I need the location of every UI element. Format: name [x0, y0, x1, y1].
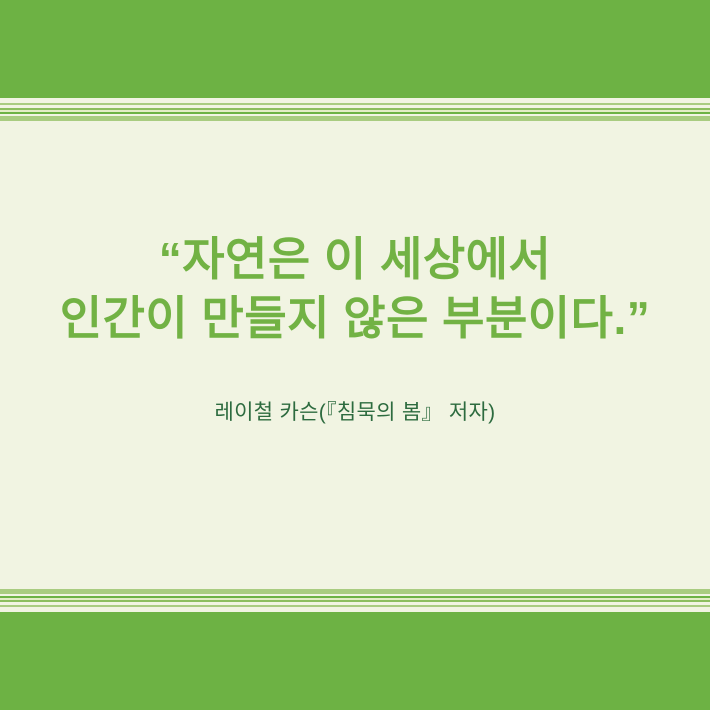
bottom-stripe-decoration — [0, 588, 710, 612]
quote-card: “자연은 이 세상에서 인간이 만들지 않은 부분이다.” 레이철 카슨(『침묵… — [0, 0, 710, 710]
quote-attribution: 레이철 카슨(『침묵의 봄』 저자) — [215, 396, 496, 426]
quote-block: “자연은 이 세상에서 인간이 만들지 않은 부분이다.” — [0, 230, 710, 348]
top-green-band — [0, 0, 710, 98]
top-stripe-decoration — [0, 98, 710, 122]
quote-line-2: 인간이 만들지 않은 부분이다.” — [0, 289, 710, 348]
quote-line-1: “자연은 이 세상에서 — [0, 230, 710, 289]
content-area: “자연은 이 세상에서 인간이 만들지 않은 부분이다.” 레이철 카슨(『침묵… — [0, 122, 710, 585]
bottom-green-band — [0, 612, 710, 710]
